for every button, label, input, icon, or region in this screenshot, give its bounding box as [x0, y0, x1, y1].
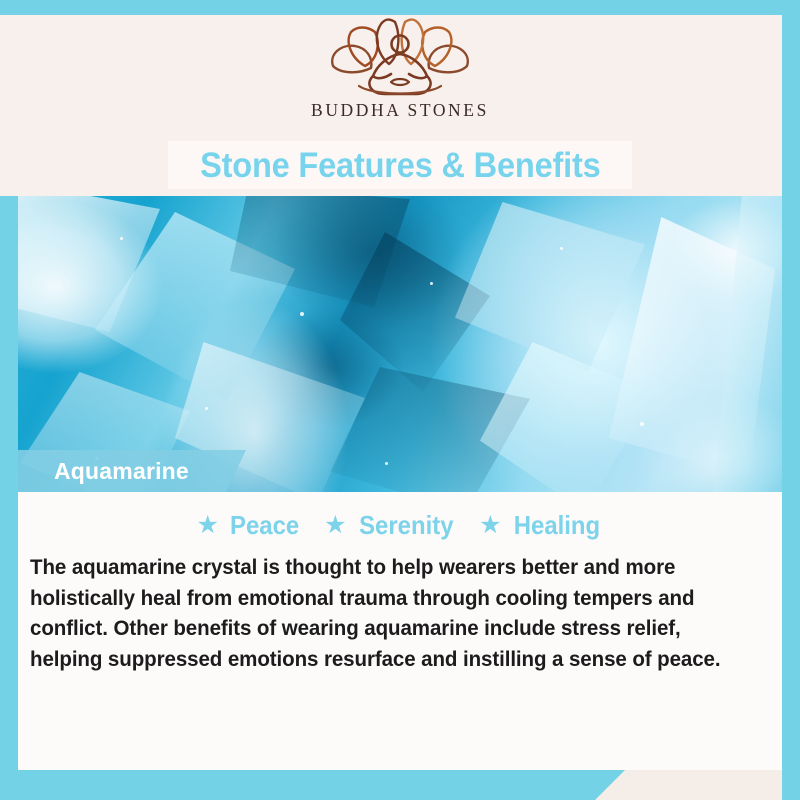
left-frame-bar	[0, 196, 18, 800]
crystal-facet	[455, 202, 645, 372]
sparkle-icon	[300, 312, 304, 316]
feature-label: Peace	[230, 512, 299, 538]
brand-logo: BUDDHA STONES	[0, 14, 800, 120]
feature-item-peace: ★ Peace	[197, 512, 303, 538]
star-icon: ★	[197, 513, 219, 538]
lotus-meditation-icon	[315, 14, 485, 100]
stone-description-section: ★ Peace ★ Serenity ★ Healing The aquamar…	[18, 492, 782, 770]
sparkle-icon	[120, 237, 123, 240]
sparkle-icon	[430, 282, 433, 285]
brand-name: BUDDHA STONES	[311, 102, 489, 120]
feature-label: Serenity	[359, 512, 453, 538]
stone-description-text: The aquamarine crystal is thought to hel…	[30, 552, 737, 674]
feature-label: Healing	[513, 512, 599, 538]
poster-title-band: Stone Features & Benefits	[168, 141, 632, 189]
feature-list: ★ Peace ★ Serenity ★ Healing	[18, 492, 782, 538]
star-icon: ★	[324, 513, 346, 538]
feature-item-healing: ★ Healing	[479, 512, 603, 538]
sparkle-icon	[385, 462, 388, 465]
stone-benefits-poster: BUDDHA STONES Stone Features & Benefits …	[0, 0, 800, 800]
bottom-frame-bar	[0, 770, 625, 800]
stone-name-banner: Aquamarine	[18, 450, 246, 492]
right-frame-bar	[782, 0, 800, 800]
page-title: Stone Features & Benefits	[200, 148, 601, 183]
sparkle-icon	[640, 422, 644, 426]
sparkle-icon	[205, 407, 208, 410]
aquamarine-crystal-photo	[0, 192, 782, 492]
feature-item-serenity: ★ Serenity	[324, 512, 457, 538]
sparkle-icon	[560, 247, 563, 250]
top-frame-bar	[0, 0, 800, 15]
stone-name: Aquamarine	[54, 460, 189, 483]
star-icon: ★	[479, 513, 501, 538]
